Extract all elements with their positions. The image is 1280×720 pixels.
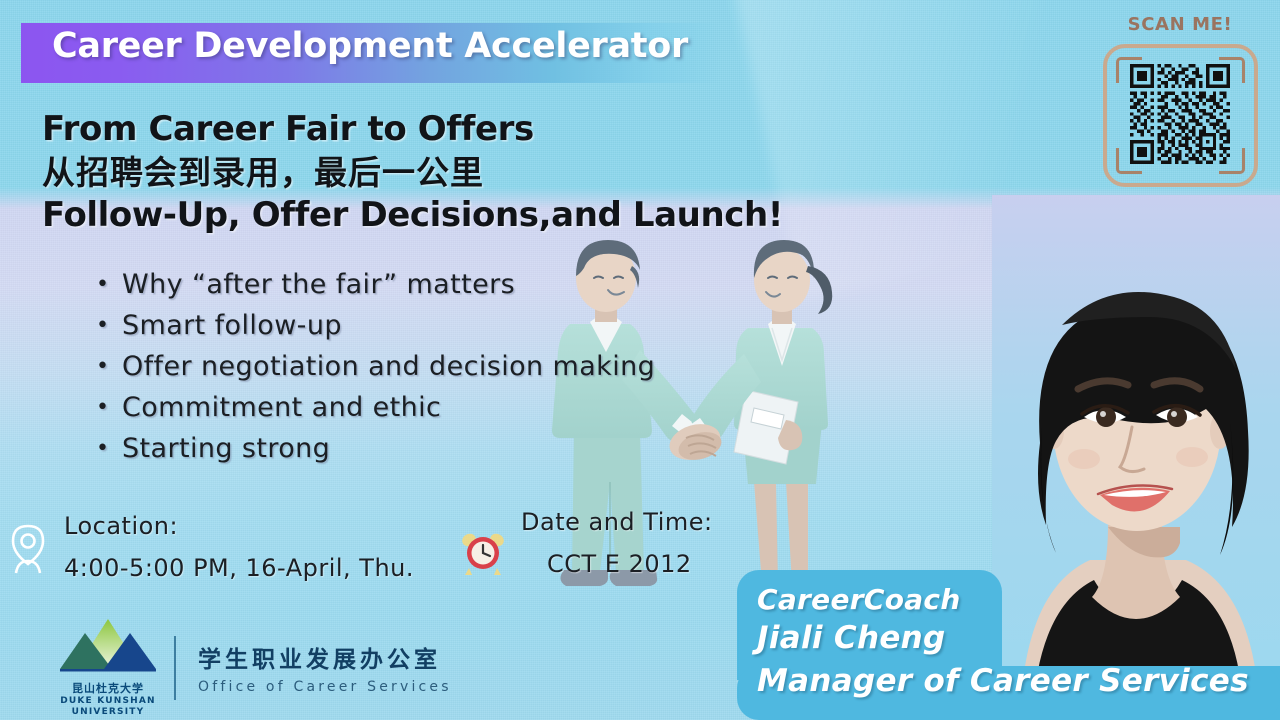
date-time-value: CCT E 2012 — [547, 550, 713, 578]
qr-section[interactable]: SCAN ME! — [1095, 14, 1265, 187]
logo-cn-small: 昆山杜克大学 — [60, 680, 156, 696]
speaker-name: Jiali Cheng — [757, 618, 1249, 659]
map-pin-icon — [6, 521, 50, 579]
location-value: 4:00-5:00 PM, 16-April, Thu. — [64, 554, 414, 582]
office-name-en: Office of Career Services — [198, 679, 452, 695]
mountain-logo-icon: 昆山杜克大学 DUKE KUNSHAN UNIVERSITY — [60, 617, 156, 718]
agenda-bullet-list: Why “after the fair” matters Smart follo… — [96, 264, 655, 469]
speaker-info: CareerCoach Jiali Cheng Manager of Caree… — [757, 582, 1249, 701]
title-line-en-1: From Career Fair to Offers — [42, 108, 783, 151]
logo-divider — [174, 636, 176, 700]
date-time-label: Date and Time: — [521, 508, 713, 536]
dku-logo: 昆山杜克大学 DUKE KUNSHAN UNIVERSITY 学生职业发展办公室… — [60, 617, 452, 718]
list-item: Why “after the fair” matters — [96, 264, 655, 305]
title-line-en-2: Follow-Up, Offer Decisions,and Launch! — [42, 194, 783, 237]
location-label: Location: — [64, 512, 414, 540]
speaker-role: CareerCoach — [757, 582, 1249, 618]
title-line-cn: 从招聘会到录用，最后一公里 — [42, 151, 783, 194]
qr-frame — [1103, 44, 1258, 187]
qr-code-icon[interactable] — [1130, 64, 1230, 168]
poster-canvas: Career Development Accelerator From Care… — [0, 0, 1280, 720]
list-item: Starting strong — [96, 428, 655, 469]
list-item: Offer negotiation and decision making — [96, 346, 655, 387]
list-item: Commitment and ethic — [96, 387, 655, 428]
page-title: Career Development Accelerator — [52, 26, 688, 66]
speaker-title: Manager of Career Services — [757, 661, 1249, 701]
list-item: Smart follow-up — [96, 305, 655, 346]
main-title-block: From Career Fair to Offers 从招聘会到录用，最后一公里… — [42, 108, 783, 237]
date-time-info: Date and Time: CCT E 2012 — [521, 508, 713, 578]
alarm-clock-icon — [458, 528, 508, 582]
logo-en-small-2: UNIVERSITY — [60, 707, 156, 718]
location-info: Location: 4:00-5:00 PM, 16-April, Thu. — [64, 512, 414, 582]
office-name-cn: 学生职业发展办公室 — [198, 640, 452, 674]
scan-me-label: SCAN ME! — [1095, 14, 1265, 35]
logo-en-small-1: DUKE KUNSHAN — [60, 696, 156, 707]
